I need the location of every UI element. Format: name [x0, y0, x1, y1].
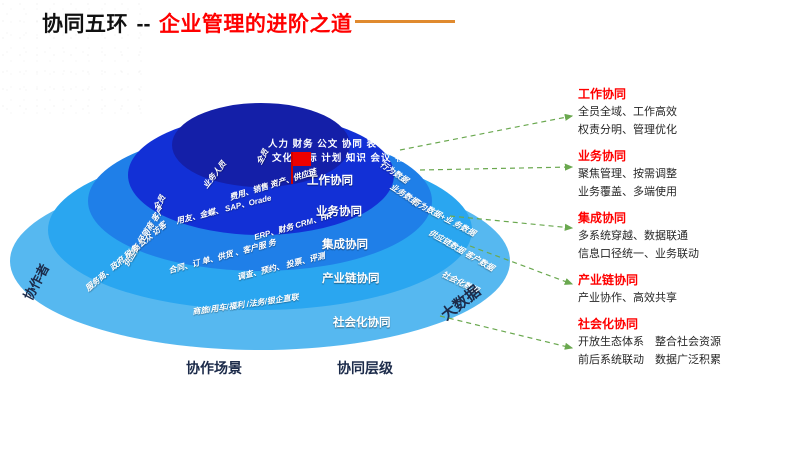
panel-line: 产业协作、高效共享: [578, 289, 787, 307]
panel-line: 全员全域、工作高效: [578, 103, 787, 121]
panel-heading-business: 业务协同: [578, 148, 787, 165]
panel-line: 业务覆盖、多端使用: [578, 183, 787, 201]
panel-block-chain: 产业链协同 产业协作、高效共享: [578, 272, 787, 307]
axis-label-scenarios: 协作场景: [186, 358, 242, 378]
panel-line: 信息口径统一、业务联动: [578, 245, 787, 263]
ring-label-chain: 产业链协同: [322, 270, 380, 286]
ring-label-social: 社会化协同: [333, 314, 391, 330]
panel-heading-social: 社会化协同: [578, 316, 787, 333]
explanation-panel: 工作协同 全员全域、工作高效 权责分明、管理优化 业务协同 聚焦管理、按需调整 …: [578, 86, 787, 378]
panel-block-business: 业务协同 聚焦管理、按需调整 业务覆盖、多端使用: [578, 148, 787, 201]
panel-block-integration: 集成协同 多系统穿越、数据联通 信息口径统一、业务联动: [578, 210, 787, 263]
panel-heading-chain: 产业链协同: [578, 272, 787, 289]
panel-block-work: 工作协同 全员全域、工作高效 权责分明、管理优化: [578, 86, 787, 139]
panel-line: 聚焦管理、按需调整: [578, 165, 787, 183]
slide-canvas: 协同五环 -- 企业管理的进阶之道 人力 财务 公文 协同 表单 行政 文化 目…: [0, 0, 787, 464]
panel-line: 多系统穿越、数据联通: [578, 227, 787, 245]
ring-label-integration: 集成协同: [322, 236, 368, 252]
panel-line: 权责分明、管理优化: [578, 121, 787, 139]
panel-line: 开放生态体系 整合社会资源: [578, 333, 787, 351]
panel-line: 前后系统联动 数据广泛积累: [578, 351, 787, 369]
panel-heading-integration: 集成协同: [578, 210, 787, 227]
concentric-ring-diagram: 人力 财务 公文 协同 表单 行政 文化 目标 计划 知识 会议 物品 工作协同…: [0, 0, 560, 420]
axis-label-levels: 协同层级: [337, 358, 393, 378]
panel-block-social: 社会化协同 开放生态体系 整合社会资源 前后系统联动 数据广泛积累: [578, 316, 787, 369]
panel-heading-work: 工作协同: [578, 86, 787, 103]
core-keywords-line-1: 人力 财务 公文 协同 表单 行政: [268, 136, 412, 150]
